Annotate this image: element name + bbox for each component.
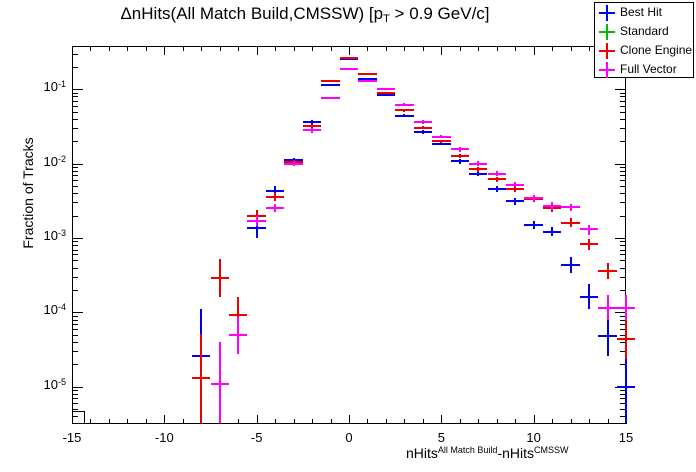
plot-title-tail: > 0.9 GeV/c] [390, 4, 490, 23]
axis-tick [72, 175, 78, 176]
axis-tick [312, 46, 313, 51]
axis-tick [72, 329, 78, 330]
axis-tick [571, 419, 572, 424]
axis-tick [534, 415, 535, 424]
axis-tick [275, 419, 276, 424]
axis-tick [534, 46, 535, 55]
axis-tick [72, 106, 78, 107]
axis-tick [367, 46, 368, 51]
data-point-error-bar [496, 186, 498, 192]
y-tick-label-4: 10-5 [20, 377, 66, 392]
axis-tick [72, 254, 78, 255]
axis-tick [72, 387, 83, 388]
axis-tick [72, 67, 78, 68]
axis-tick [571, 46, 572, 51]
x-axis-label-part-a: nHits [406, 445, 438, 461]
axis-tick [620, 93, 626, 94]
axis-tick [72, 89, 83, 90]
y-tick-mantissa-4: 10 [44, 377, 58, 392]
axis-tick [620, 250, 626, 251]
data-point-error-bar [496, 177, 498, 182]
axis-tick [90, 46, 91, 51]
axis-tick [72, 216, 78, 217]
axis-tick [460, 419, 461, 424]
x-tick-label-0: -15 [47, 430, 97, 445]
data-point-error-bar [459, 154, 461, 158]
axis-tick [294, 46, 295, 51]
axis-tick [201, 46, 202, 51]
axis-tick [72, 320, 78, 321]
y-tick-label-3: 10-4 [20, 302, 66, 317]
axis-tick [620, 254, 626, 255]
data-point-marker [340, 57, 358, 59]
data-point-error-bar [514, 198, 516, 204]
axis-tick [497, 46, 498, 51]
axis-tick [220, 46, 221, 51]
axis-tick [620, 101, 626, 102]
data-point-marker [377, 88, 395, 90]
plot-title: ΔnHits(All Match Build,CMSSW) [pT > 0.9 … [0, 4, 610, 25]
data-point-error-bar [607, 295, 609, 320]
axis-tick [620, 260, 626, 261]
axis-tick [620, 96, 626, 97]
axis-tick [72, 390, 78, 391]
data-point-marker [340, 68, 358, 70]
x-tick-label-4: 5 [416, 430, 466, 445]
axis-tick [620, 186, 626, 187]
data-point-error-bar [403, 103, 405, 106]
axis-tick [620, 119, 626, 120]
axis-tick [72, 403, 78, 404]
legend-marker-icon-vertical [606, 43, 608, 59]
axis-tick [72, 119, 78, 120]
plot-frame [72, 46, 626, 424]
data-point-error-bar [570, 204, 572, 211]
y-tick-exponent-0: -1 [58, 79, 66, 89]
axis-tick [72, 128, 78, 129]
data-point-error-bar [219, 259, 221, 297]
x-axis-label-sup-b: CMSSW [534, 445, 569, 455]
data-point-error-bar [625, 295, 627, 320]
axis-tick [515, 46, 516, 51]
axis-tick [620, 128, 626, 129]
data-point-error-bar [256, 216, 258, 226]
axis-tick [423, 419, 424, 424]
y-tick-label-1: 10-2 [20, 154, 66, 169]
axis-tick [146, 419, 147, 424]
data-point-marker [358, 73, 376, 75]
data-point-error-bar [496, 171, 498, 176]
x-tick-label-6: 15 [601, 430, 651, 445]
axis-tick [460, 46, 461, 51]
y-tick-mantissa-3: 10 [44, 302, 58, 317]
axis-tick [620, 171, 626, 172]
axis-tick [367, 419, 368, 424]
legend-marker-icon-vertical [606, 5, 608, 21]
axis-tick [620, 167, 626, 168]
axis-tick [441, 46, 442, 55]
legend-box[interactable]: Best HitStandardClone EngineFull Vector [594, 2, 694, 78]
legend-label: Standard [620, 24, 669, 38]
legend-label: Full Vector [620, 62, 677, 76]
axis-tick [620, 112, 626, 113]
axis-tick [620, 277, 626, 278]
legend-item-best-hit[interactable]: Best Hit [595, 3, 695, 22]
axis-tick [615, 238, 626, 239]
axis-tick [478, 419, 479, 424]
data-point-error-bar [625, 356, 627, 423]
data-point-error-bar [422, 130, 424, 134]
axis-tick [72, 250, 78, 251]
axis-tick [238, 46, 239, 51]
axis-tick [146, 46, 147, 51]
axis-tick [72, 409, 78, 410]
axis-tick [72, 54, 78, 55]
axis-tick [72, 290, 78, 291]
data-point-error-bar [311, 128, 313, 133]
axis-tick [608, 419, 609, 424]
axis-tick [127, 419, 128, 424]
axis-tick [404, 46, 405, 51]
axis-tick [386, 46, 387, 51]
x-axis-label-part-b: -nHits [497, 445, 534, 461]
axis-tick [72, 164, 83, 165]
data-point-error-bar [200, 334, 202, 423]
data-point-error-bar [588, 284, 590, 309]
data-point-error-bar [607, 263, 609, 279]
axis-tick [257, 415, 258, 424]
axis-tick [72, 324, 78, 325]
axis-tick [620, 290, 626, 291]
data-point-error-bar [440, 140, 442, 143]
axis-tick [386, 419, 387, 424]
axis-tick [620, 202, 626, 203]
data-point-error-bar [440, 135, 442, 138]
axis-tick [72, 398, 78, 399]
axis-tick [312, 419, 313, 424]
data-point-error-bar [422, 126, 424, 129]
x-tick-label-5: 10 [509, 430, 559, 445]
axis-tick [331, 419, 332, 424]
axis-tick [72, 171, 78, 172]
axis-tick [72, 245, 78, 246]
axis-tick [620, 180, 626, 181]
axis-tick [72, 96, 78, 97]
axis-tick [72, 342, 78, 343]
axis-tick [72, 277, 78, 278]
axis-tick [515, 419, 516, 424]
axis-tick [72, 394, 78, 395]
x-tick-label-2: -5 [232, 430, 282, 445]
data-point-error-bar [514, 182, 516, 188]
axis-tick [275, 46, 276, 51]
axis-tick [404, 419, 405, 424]
data-point-marker [321, 97, 339, 99]
axis-tick [589, 46, 590, 51]
data-point-error-bar [477, 171, 479, 176]
y-tick-mantissa-1: 10 [44, 154, 58, 169]
y-tick-exponent-3: -4 [58, 302, 66, 312]
data-point-error-bar [477, 167, 479, 172]
axis-tick [423, 46, 424, 51]
axis-tick [72, 167, 78, 168]
axis-tick [72, 112, 78, 113]
axis-tick [72, 312, 83, 313]
y-tick-mantissa-0: 10 [44, 79, 58, 94]
data-point-marker [321, 84, 339, 86]
data-point-error-bar [219, 342, 221, 423]
data-point-marker [358, 80, 376, 82]
axis-tick [72, 335, 78, 336]
legend-item-full-vector[interactable]: Full Vector [595, 60, 695, 79]
axis-tick [620, 141, 626, 142]
legend-item-clone-engine[interactable]: Clone Engine [595, 41, 695, 60]
y-tick-exponent-2: -3 [58, 228, 66, 238]
underflow-box [72, 411, 85, 424]
y-tick-mantissa-2: 10 [44, 228, 58, 243]
axis-tick [109, 419, 110, 424]
axis-tick [72, 416, 78, 417]
axis-tick [72, 260, 78, 261]
x-axis-label-sup-a: All Match Build [438, 445, 498, 455]
axis-tick [164, 415, 165, 424]
axis-tick [127, 46, 128, 51]
axis-tick [72, 93, 78, 94]
axis-tick [620, 241, 626, 242]
axis-tick [90, 419, 91, 424]
axis-tick [72, 364, 78, 365]
data-point-error-bar [422, 120, 424, 124]
axis-tick [349, 46, 350, 55]
axis-tick [478, 46, 479, 51]
axis-tick [294, 419, 295, 424]
plot-canvas: ΔnHits(All Match Build,CMSSW) [pT > 0.9 … [0, 0, 696, 472]
axis-tick [441, 415, 442, 424]
axis-tick [620, 193, 626, 194]
legend-label: Clone Engine [620, 43, 692, 57]
data-point-error-bar [459, 147, 461, 151]
plot-title-subscript: T [383, 13, 390, 25]
data-point-error-bar [274, 193, 276, 201]
axis-tick [497, 419, 498, 424]
data-point-error-bar [588, 225, 590, 235]
data-point-error-bar [607, 316, 609, 356]
axis-tick [72, 186, 78, 187]
x-tick-label-1: -10 [139, 430, 189, 445]
y-tick-exponent-1: -2 [58, 154, 66, 164]
data-point-error-bar [403, 109, 405, 111]
x-tick-label-3: 0 [324, 430, 374, 445]
data-point-marker [321, 80, 339, 82]
axis-tick [72, 202, 78, 203]
axis-tick [72, 241, 78, 242]
data-point-error-bar [588, 239, 590, 251]
data-point-error-bar [570, 218, 572, 227]
data-point-error-bar [514, 187, 516, 193]
axis-tick [257, 46, 258, 55]
legend-marker-icon-vertical [606, 62, 608, 78]
axis-tick [620, 106, 626, 107]
data-point-error-bar [237, 317, 239, 353]
axis-tick [331, 46, 332, 51]
axis-tick [620, 175, 626, 176]
legend-marker-icon-vertical [606, 24, 608, 40]
axis-tick [72, 180, 78, 181]
data-point-error-bar [551, 227, 553, 236]
axis-tick [183, 46, 184, 51]
axis-tick [620, 268, 626, 269]
data-point-marker [377, 94, 395, 96]
axis-tick [72, 351, 78, 352]
axis-tick [620, 245, 626, 246]
axis-tick [109, 46, 110, 51]
axis-tick [589, 419, 590, 424]
axis-tick [349, 415, 350, 424]
axis-tick [164, 46, 165, 55]
y-tick-label-2: 10-3 [20, 228, 66, 243]
axis-tick [72, 238, 83, 239]
legend-item-standard[interactable]: Standard [595, 22, 695, 41]
data-point-error-bar [625, 320, 627, 359]
axis-tick [620, 216, 626, 217]
axis-tick [72, 141, 78, 142]
data-point-error-bar [459, 159, 461, 164]
axis-tick [72, 268, 78, 269]
data-point-error-bar [274, 204, 276, 213]
axis-tick [72, 193, 78, 194]
data-point-error-bar [403, 114, 405, 117]
data-point-error-bar [533, 195, 535, 202]
axis-tick [72, 316, 78, 317]
data-point-marker [377, 92, 395, 94]
axis-tick [552, 46, 553, 51]
y-tick-label-0: 10-1 [20, 79, 66, 94]
axis-tick [183, 419, 184, 424]
plot-title-main: ΔnHits(All Match Build,CMSSW) [p [120, 4, 383, 23]
y-tick-exponent-4: -5 [58, 377, 66, 387]
data-point-error-bar [551, 202, 553, 209]
data-point-error-bar [570, 257, 572, 273]
axis-tick [72, 101, 78, 102]
x-axis-label: nHitsAll Match Build-nHitsCMSSW [406, 445, 569, 461]
data-point-error-bar [533, 221, 535, 230]
axis-tick [238, 419, 239, 424]
legend-label: Best Hit [620, 5, 662, 19]
axis-tick [552, 419, 553, 424]
data-point-error-bar [293, 161, 295, 166]
axis-tick [615, 164, 626, 165]
y-axis-label: Fraction of Tracks [20, 83, 36, 303]
axis-tick [615, 89, 626, 90]
data-point-error-bar [477, 161, 479, 166]
